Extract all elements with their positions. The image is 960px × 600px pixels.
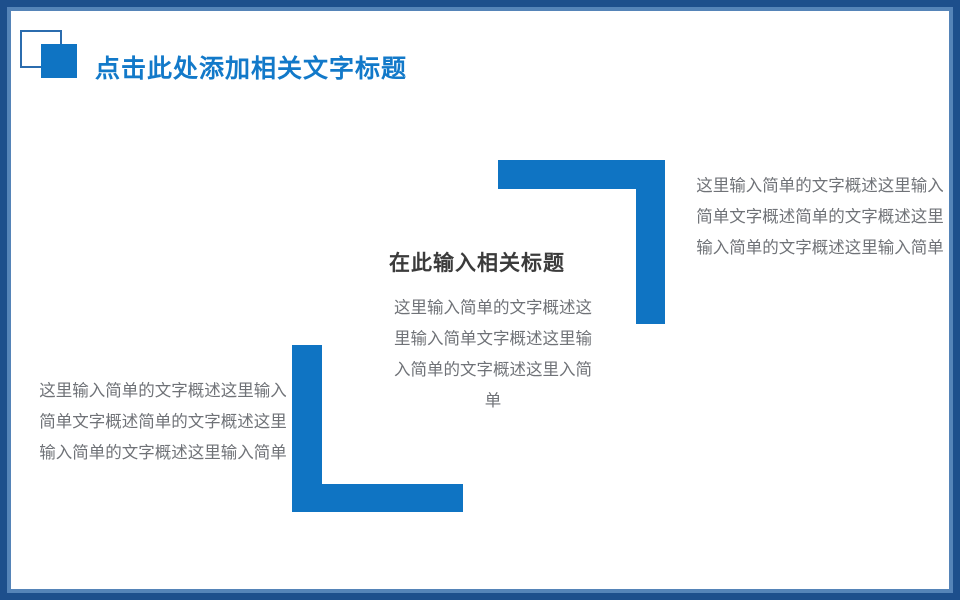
text-block-center-heading[interactable]: 在此输入相关标题 [389,247,565,277]
slide-header: 点击此处添加相关文字标题 [11,11,949,101]
slide-content-area: 点击此处添加相关文字标题 这里输入简单的文字概述这里输入简单文字概述简单的文字概… [11,11,949,589]
logo-mark [20,30,82,80]
page-title[interactable]: 点击此处添加相关文字标题 [95,49,407,85]
text-block-left[interactable]: 这里输入简单的文字概述这里输入简单文字概述简单的文字概述这里输入简单的文字概述这… [35,375,291,468]
text-block-center-body[interactable]: 这里输入简单的文字概述这里输入简单文字概述这里输入简单的文字概述这里入简单 [387,292,599,416]
bracket-vertical-bar [636,160,665,324]
slide-canvas: 点击此处添加相关文字标题 这里输入简单的文字概述这里输入简单文字概述简单的文字概… [0,0,960,600]
bracket-horizontal-bar [292,484,463,512]
text-block-right[interactable]: 这里输入简单的文字概述这里输入简单文字概述简单的文字概述这里输入简单的文字概述这… [691,170,949,263]
square-filled-icon [41,44,77,78]
